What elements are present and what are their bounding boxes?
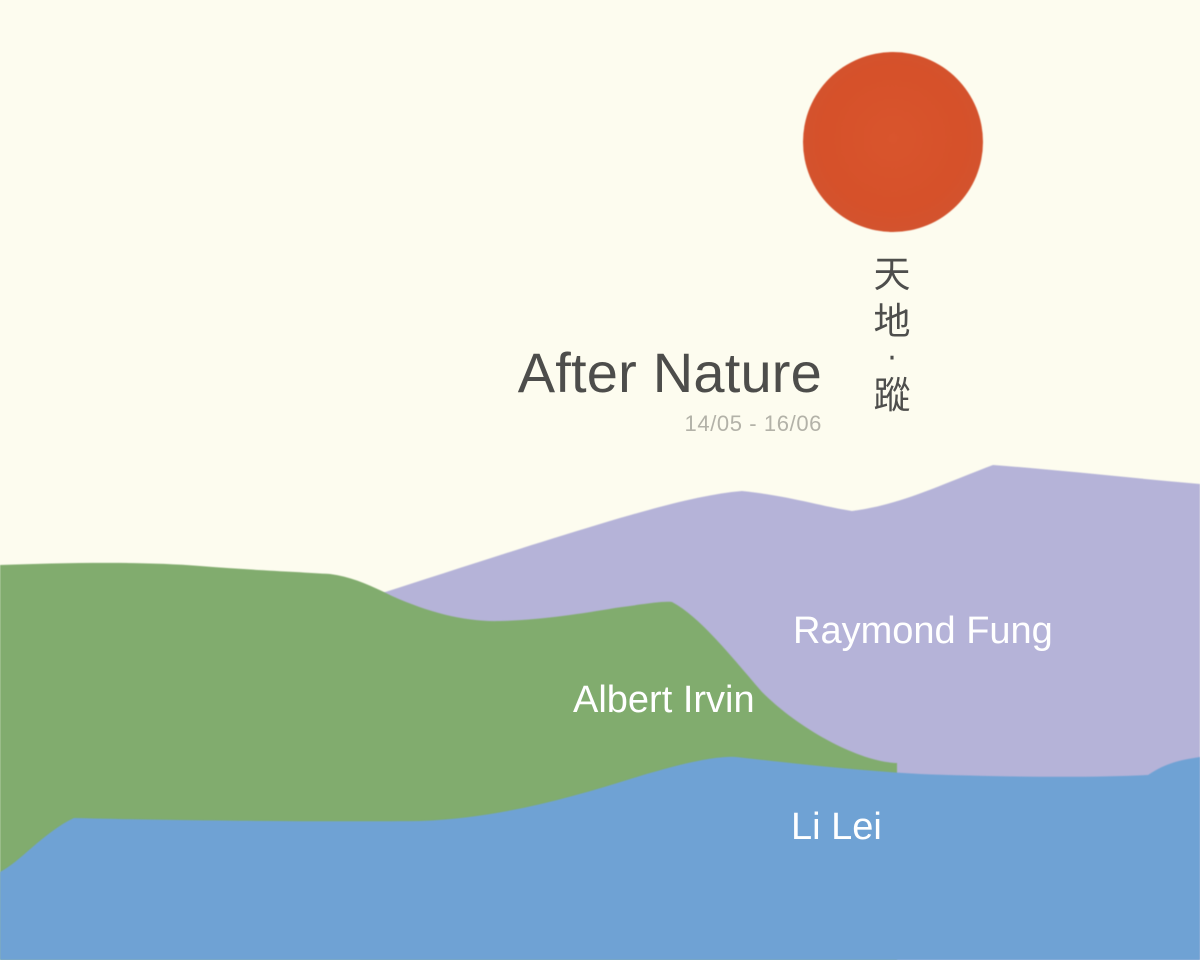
sun [803,52,983,232]
artist-label-raymond-fung: Raymond Fung [793,612,1053,650]
poster-canvas: 天 地 · 蹤 After Nature 14/05 - 16/06 Raymo… [0,0,1200,960]
chinese-title: 天 地 · 蹤 [866,252,918,419]
landscape-illustration [0,0,1200,960]
chinese-title-char-1: 天 [866,252,918,299]
chinese-title-separator-dot: · [866,345,918,373]
chinese-title-char-2: 地 [866,299,918,346]
chinese-title-char-4: 蹤 [866,373,918,420]
artist-label-albert-irvin: Albert Irvin [573,681,755,719]
sun-texture [803,52,983,232]
title-block: After Nature 14/05 - 16/06 [0,344,822,435]
exhibition-dates: 14/05 - 16/06 [0,413,822,435]
page-title: After Nature [0,344,822,403]
artist-label-li-lei: Li Lei [791,808,882,846]
